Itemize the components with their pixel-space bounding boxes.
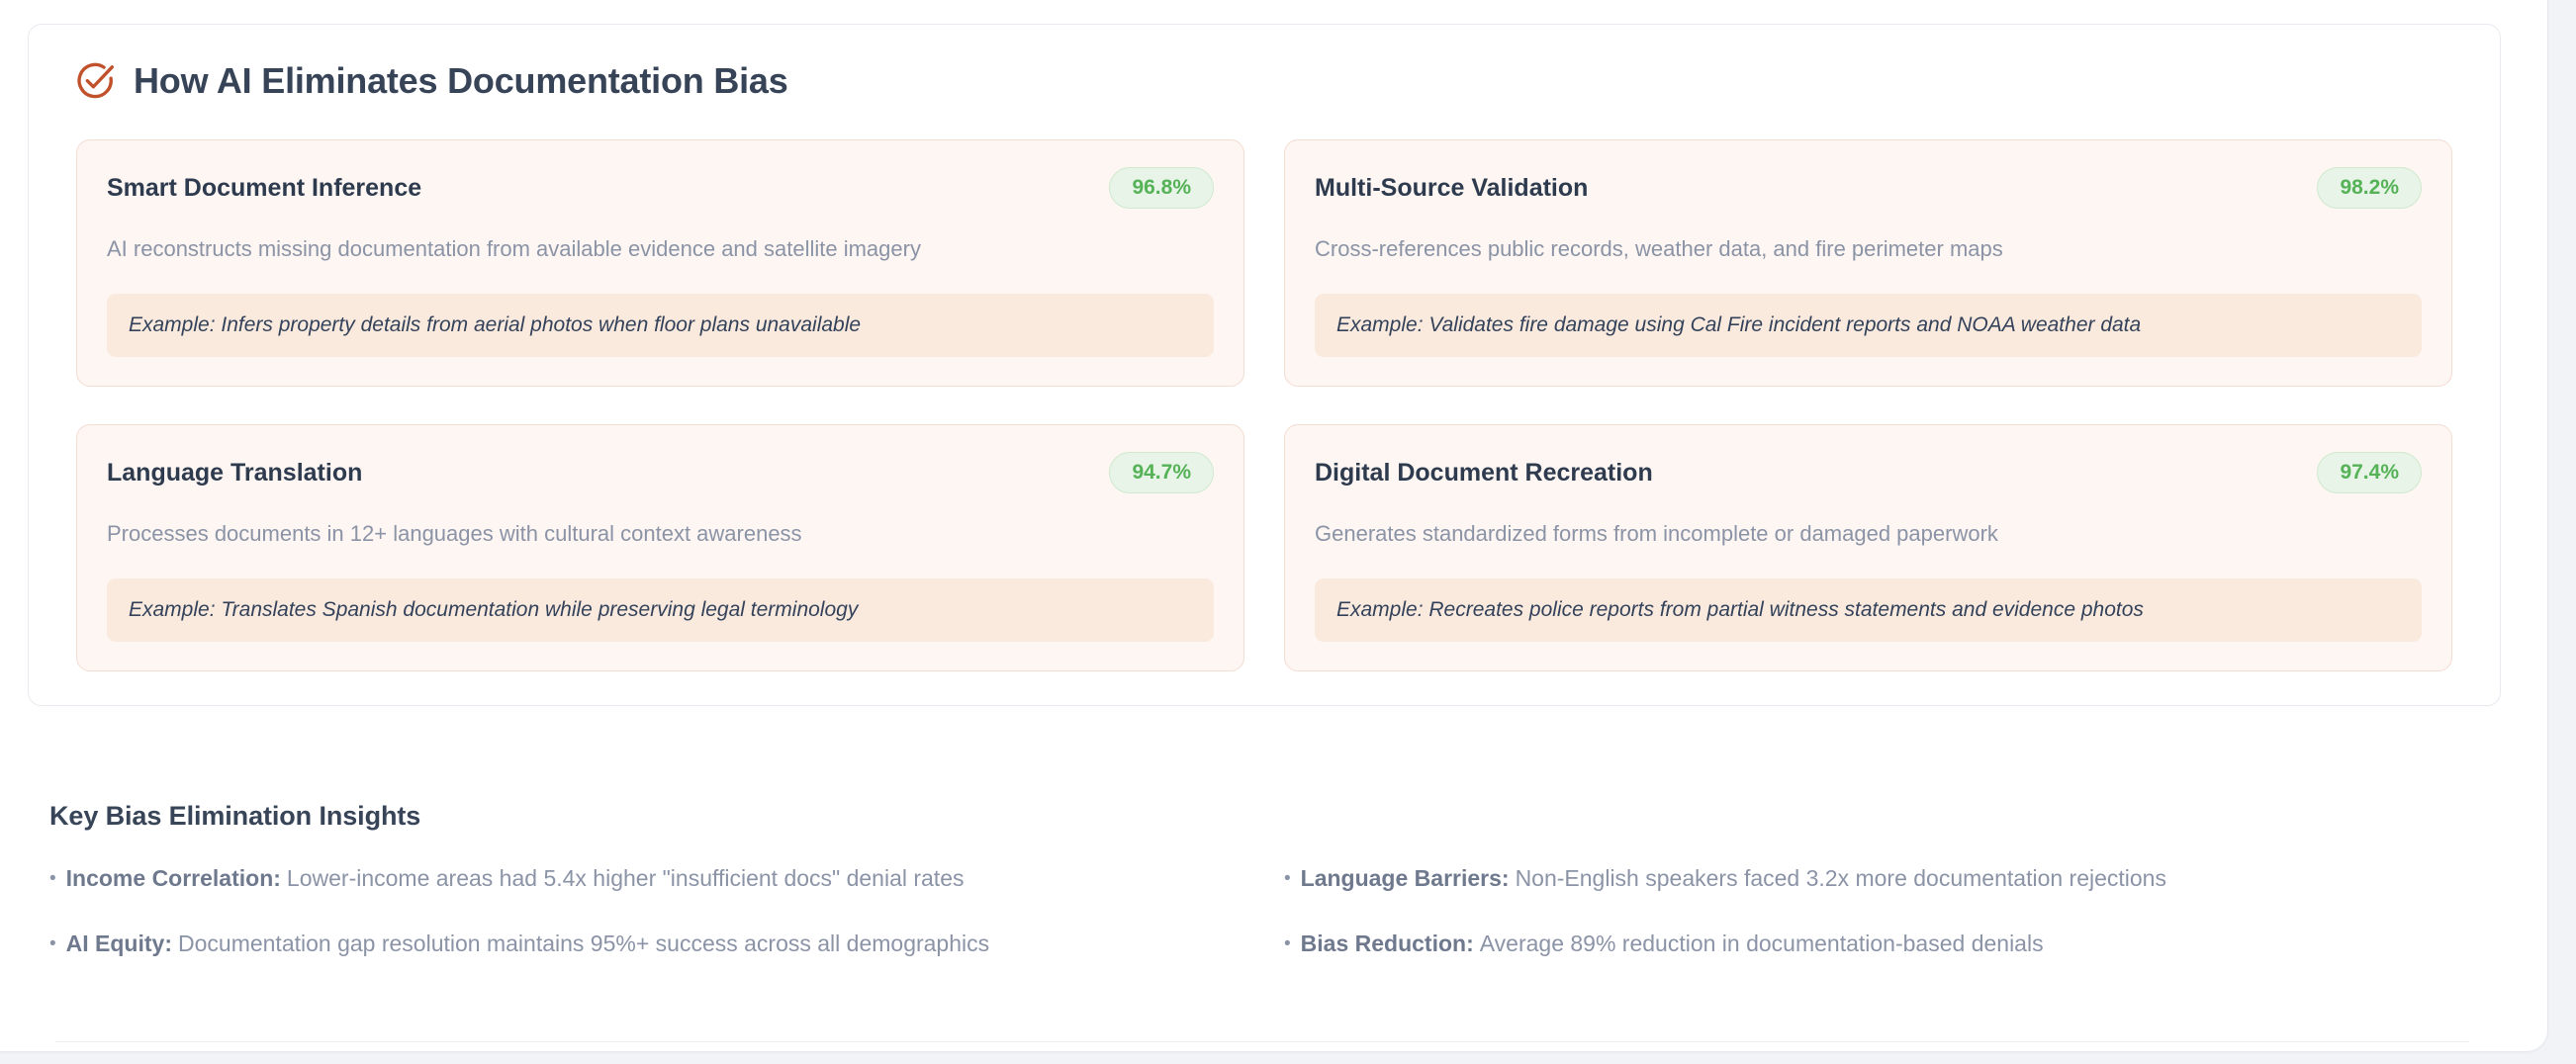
insight-label: Bias Reduction: [1301, 931, 1474, 956]
feature-card-language-translation[interactable]: Language Translation 94.7% Processes doc… [76, 424, 1244, 671]
page-content: How AI Eliminates Documentation Bias Sma… [28, 24, 2523, 1052]
feature-card-example: Example: Validates fire damage using Cal… [1315, 294, 2422, 357]
feature-card-title: Digital Document Recreation [1315, 458, 1653, 488]
insight-label: Income Correlation: [66, 865, 281, 891]
insight-text: Documentation gap resolution maintains 9… [178, 931, 989, 956]
accuracy-badge: 96.8% [1109, 167, 1214, 209]
accuracy-badge: 98.2% [2317, 167, 2422, 209]
feature-card-description: AI reconstructs missing documentation fr… [107, 234, 1214, 264]
insight-item-ai-equity: • AI Equity:Documentation gap resolution… [49, 930, 1284, 959]
feature-card-digital-document-recreation[interactable]: Digital Document Recreation 97.4% Genera… [1284, 424, 2452, 671]
feature-card-description: Generates standardized forms from incomp… [1315, 519, 2422, 549]
feature-card-description: Processes documents in 12+ languages wit… [107, 519, 1214, 549]
feature-card-title: Language Translation [107, 458, 362, 488]
feature-card-example: Example: Translates Spanish documentatio… [107, 578, 1214, 642]
feature-card-example: Example: Infers property details from ae… [107, 294, 1214, 357]
section-header: How AI Eliminates Documentation Bias [60, 54, 2468, 102]
bullet-icon: • [49, 869, 56, 888]
feature-card-smart-document-inference[interactable]: Smart Document Inference 96.8% AI recons… [76, 139, 1244, 387]
feature-card-grid: Smart Document Inference 96.8% AI recons… [60, 139, 2468, 671]
insight-text: Non-English speakers faced 3.2x more doc… [1516, 865, 2166, 891]
feature-card-header: Digital Document Recreation 97.4% [1315, 452, 2422, 493]
insights-grid: • Income Correlation:Lower-income areas … [49, 864, 2519, 959]
insight-item-income-correlation: • Income Correlation:Lower-income areas … [49, 864, 1284, 894]
bullet-icon: • [1284, 934, 1291, 953]
accuracy-badge: 94.7% [1109, 452, 1214, 493]
app-viewport: How AI Eliminates Documentation Bias Sma… [0, 0, 2576, 1064]
insight-text: Lower-income areas had 5.4x higher "insu… [287, 865, 965, 891]
insight-label: AI Equity: [66, 931, 172, 956]
feature-card-example: Example: Recreates police reports from p… [1315, 578, 2422, 642]
feature-card-title: Smart Document Inference [107, 173, 421, 203]
feature-card-description: Cross-references public records, weather… [1315, 234, 2422, 264]
insight-label: Language Barriers: [1301, 865, 1510, 891]
feature-card-header: Smart Document Inference 96.8% [107, 167, 1214, 209]
feature-card-header: Multi-Source Validation 98.2% [1315, 167, 2422, 209]
key-insights-section: Key Bias Elimination Insights • Income C… [28, 801, 2523, 959]
bullet-icon: • [49, 934, 56, 953]
accuracy-badge: 97.4% [2317, 452, 2422, 493]
insight-item-language-barriers: • Language Barriers:Non-English speakers… [1284, 864, 2519, 894]
insight-item-bias-reduction: • Bias Reduction:Average 89% reduction i… [1284, 930, 2519, 959]
feature-card-header: Language Translation 94.7% [107, 452, 1214, 493]
vertical-scrollbar[interactable] [2550, 0, 2576, 1064]
bullet-icon: • [1284, 869, 1291, 888]
feature-card-multi-source-validation[interactable]: Multi-Source Validation 98.2% Cross-refe… [1284, 139, 2452, 387]
feature-card-title: Multi-Source Validation [1315, 173, 1588, 203]
ai-bias-section-card: How AI Eliminates Documentation Bias Sma… [28, 24, 2501, 706]
check-circle-icon [74, 60, 116, 102]
insight-text: Average 89% reduction in documentation-b… [1480, 931, 2044, 956]
insights-title: Key Bias Elimination Insights [49, 801, 2519, 832]
page-title: How AI Eliminates Documentation Bias [134, 63, 788, 99]
footer-divider [55, 1041, 2469, 1042]
